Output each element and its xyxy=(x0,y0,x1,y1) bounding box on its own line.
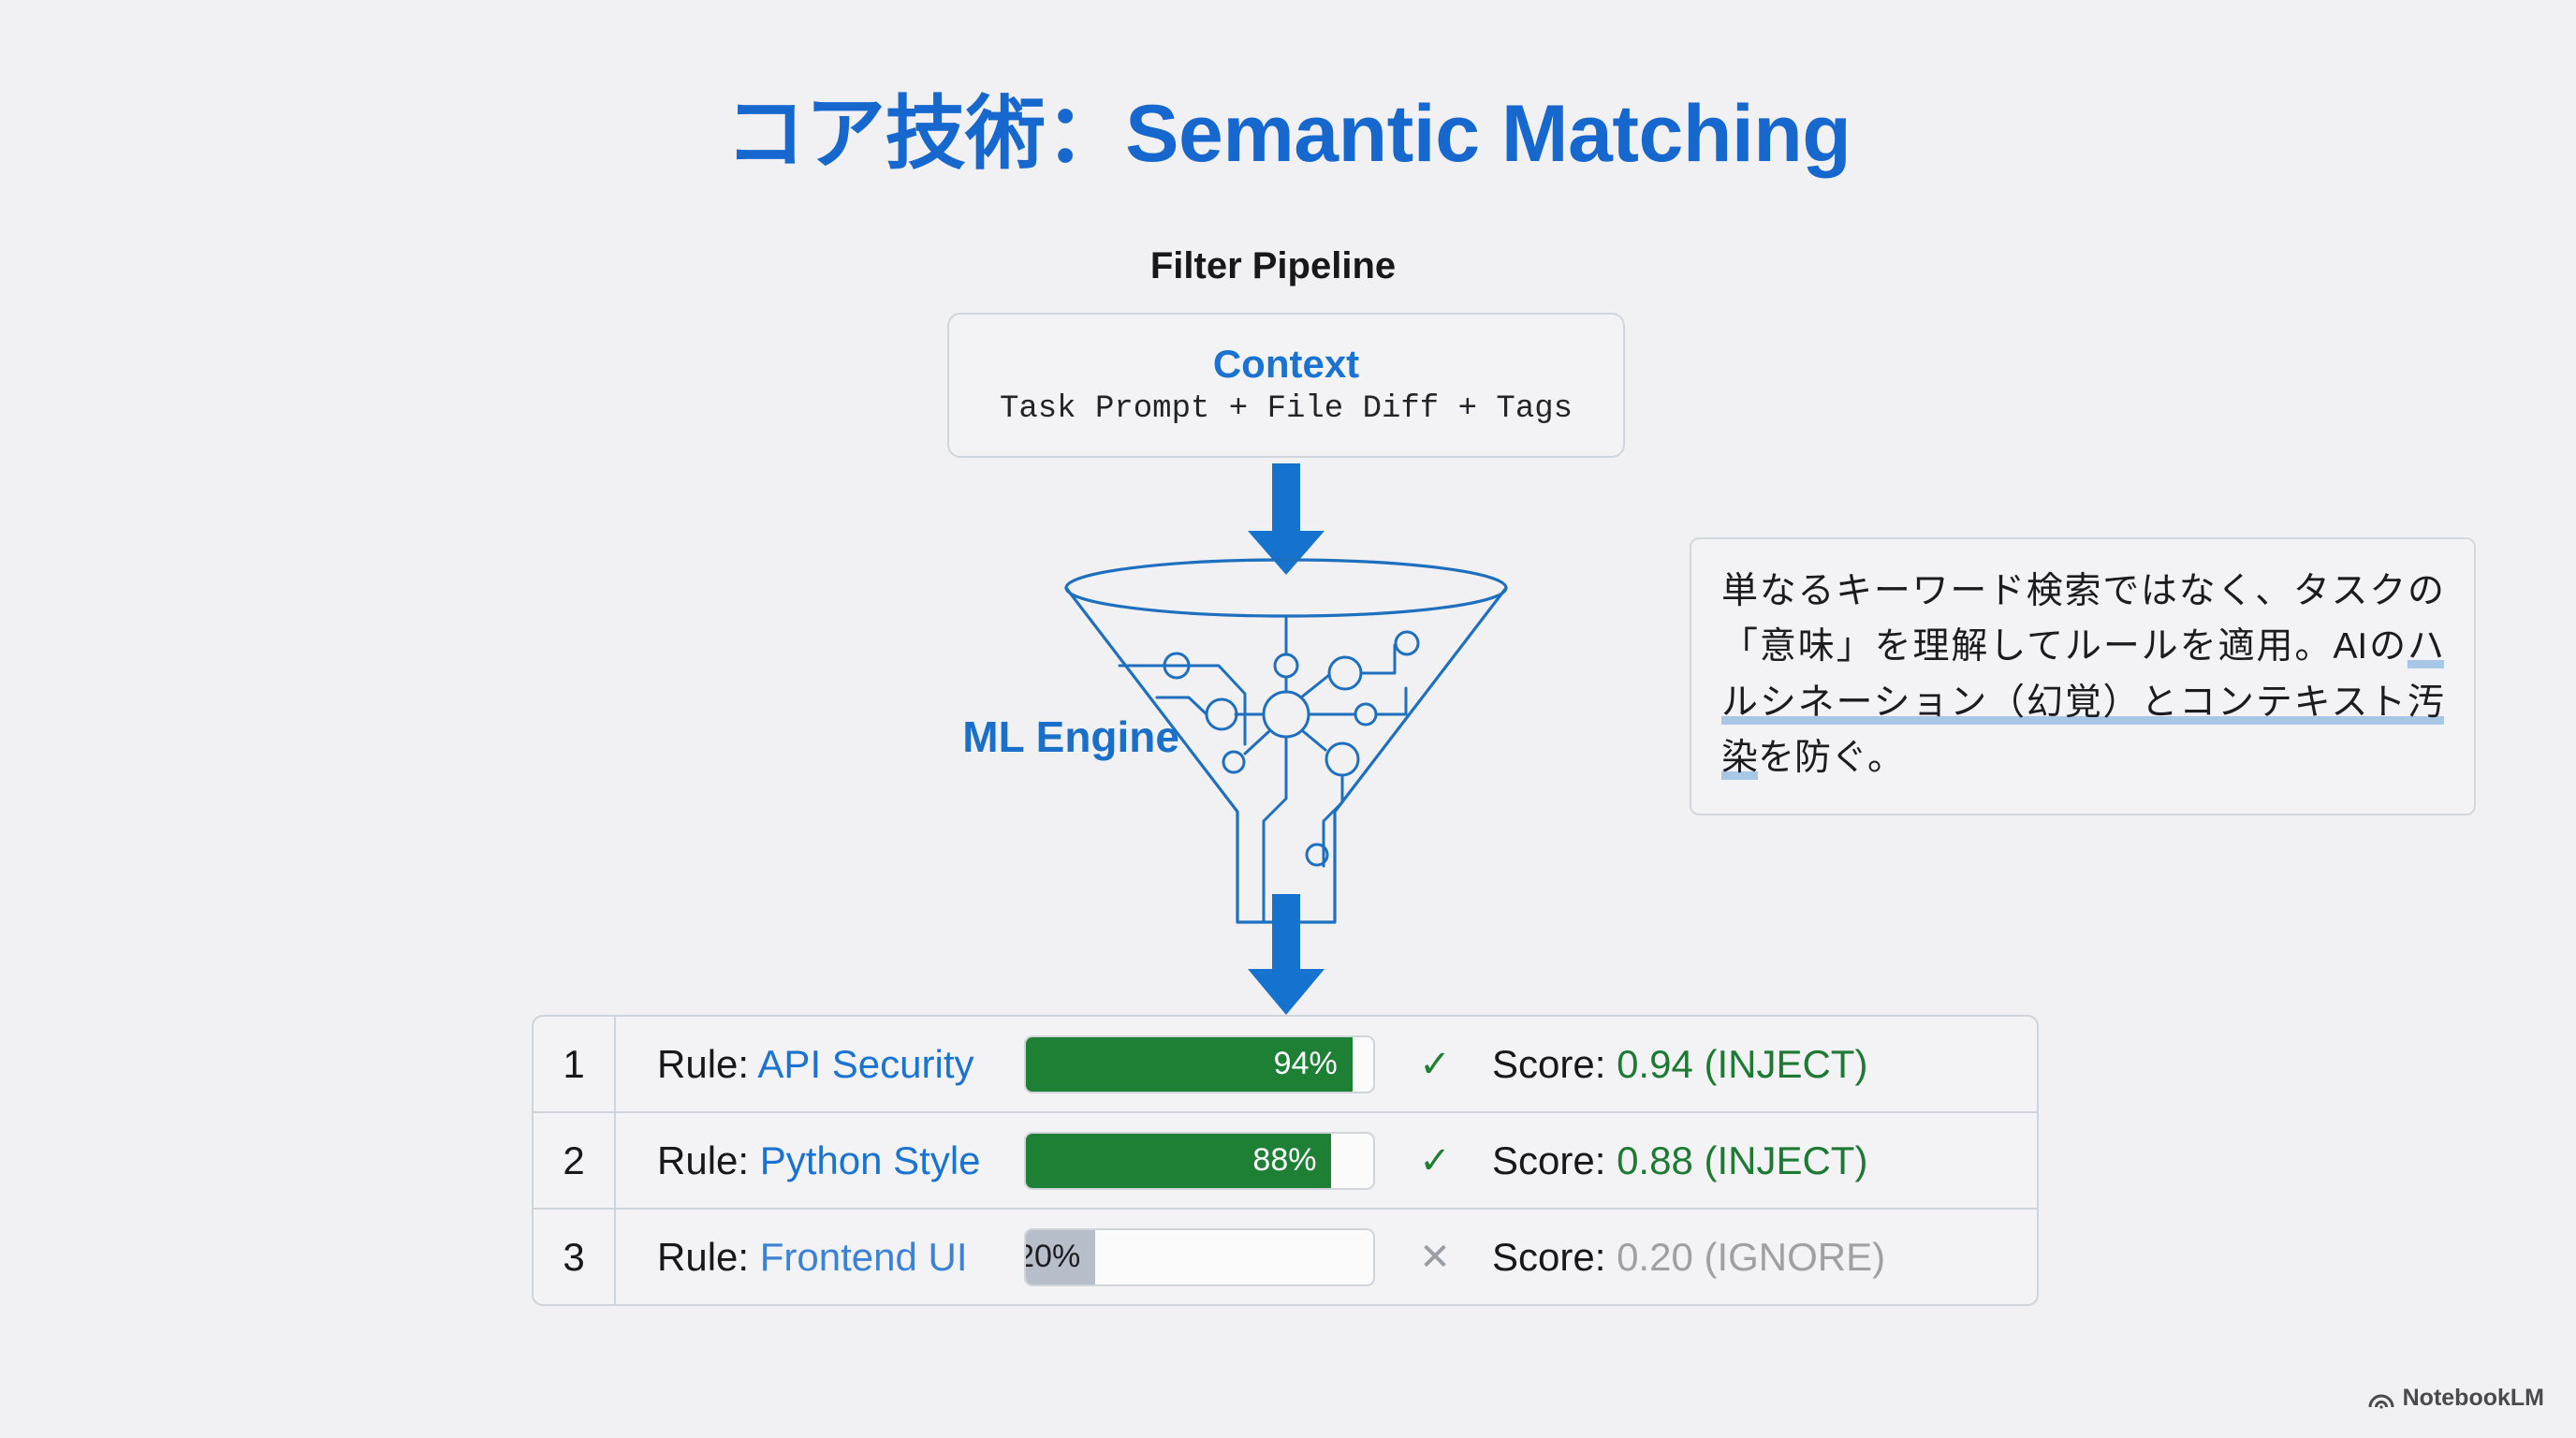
progress-label: 94% xyxy=(1274,1046,1353,1082)
progress-track: 20% xyxy=(1024,1228,1375,1286)
progress-fill: 20% xyxy=(1026,1230,1095,1284)
progress-fill: 88% xyxy=(1026,1134,1331,1188)
results-table: 1 Rule: API Security 94% ✓ Score: 0.94 (… xyxy=(532,1015,2039,1306)
row-rule: Rule: Frontend UI xyxy=(616,1235,1024,1280)
rule-name: Frontend UI xyxy=(760,1235,968,1279)
check-icon: ✓ xyxy=(1398,1142,1471,1180)
cross-icon: ✕ xyxy=(1398,1239,1471,1276)
row-score: Score: 0.94 (INJECT) xyxy=(1471,1042,2037,1087)
score-prefix: Score: xyxy=(1492,1138,1605,1182)
rule-name: Python Style xyxy=(760,1138,981,1182)
row-rule: Rule: Python Style xyxy=(616,1138,1024,1183)
row-progress: 94% xyxy=(1024,1035,1398,1093)
notebooklm-icon xyxy=(2368,1388,2394,1409)
table-row[interactable]: 3 Rule: Frontend UI 20% ✕ Score: 0.20 (I… xyxy=(534,1210,2037,1304)
context-subtitle: Task Prompt + File Diff + Tags xyxy=(1000,391,1573,427)
ml-engine-label: ML Engine xyxy=(805,712,1179,762)
progress-label: 20% xyxy=(1024,1239,1095,1275)
pipeline-heading: Filter Pipeline xyxy=(964,245,1582,287)
row-rule: Rule: API Security xyxy=(616,1042,1024,1087)
table-row[interactable]: 1 Rule: API Security 94% ✓ Score: 0.94 (… xyxy=(534,1017,2037,1113)
progress-track: 88% xyxy=(1024,1132,1375,1190)
watermark: NotebookLM xyxy=(2368,1385,2544,1412)
watermark-label: NotebookLM xyxy=(2403,1385,2544,1412)
row-score: Score: 0.20 (IGNORE) xyxy=(1471,1235,2037,1280)
score-value: 0.88 (INJECT) xyxy=(1617,1138,1867,1182)
rule-prefix: Rule: xyxy=(657,1042,749,1086)
rule-name: API Security xyxy=(757,1042,973,1086)
row-rank: 3 xyxy=(534,1210,616,1304)
context-box: Context Task Prompt + File Diff + Tags xyxy=(947,313,1625,458)
row-progress: 20% xyxy=(1024,1228,1398,1286)
progress-fill: 94% xyxy=(1026,1037,1353,1092)
row-score: Score: 0.88 (INJECT) xyxy=(1471,1138,2037,1183)
score-prefix: Score: xyxy=(1492,1042,1605,1086)
annotation-lead: 単なるキーワード検索ではなく、タスクの「意味」を理解してルールを適用。AIの xyxy=(1721,571,2444,667)
annotation-tail: を防ぐ。 xyxy=(1758,738,1904,778)
rule-prefix: Rule: xyxy=(657,1138,749,1182)
rule-prefix: Rule: xyxy=(657,1235,749,1279)
row-rank: 1 xyxy=(534,1017,616,1111)
progress-label: 88% xyxy=(1252,1142,1331,1179)
score-value: 0.20 (IGNORE) xyxy=(1617,1235,1885,1279)
arrow-down-icon xyxy=(1244,894,1328,1016)
score-prefix: Score: xyxy=(1492,1235,1605,1279)
check-icon: ✓ xyxy=(1398,1046,1471,1083)
score-value: 0.94 (INJECT) xyxy=(1617,1042,1867,1086)
page-title: コア技術：Semantic Matching xyxy=(0,67,2576,184)
table-row[interactable]: 2 Rule: Python Style 88% ✓ Score: 0.88 (… xyxy=(534,1113,2037,1210)
row-progress: 88% xyxy=(1024,1132,1398,1190)
slide-canvas: コア技術：Semantic Matching Filter Pipeline C… xyxy=(0,0,2576,1438)
context-title: Context xyxy=(1213,344,1359,385)
annotation-text: 単なるキーワード検索ではなく、タスクの「意味」を理解してルールを適用。AIのハル… xyxy=(1721,564,2444,785)
progress-track: 94% xyxy=(1024,1035,1375,1093)
annotation-callout: 単なるキーワード検索ではなく、タスクの「意味」を理解してルールを適用。AIのハル… xyxy=(1690,537,2476,815)
row-rank: 2 xyxy=(534,1113,616,1208)
